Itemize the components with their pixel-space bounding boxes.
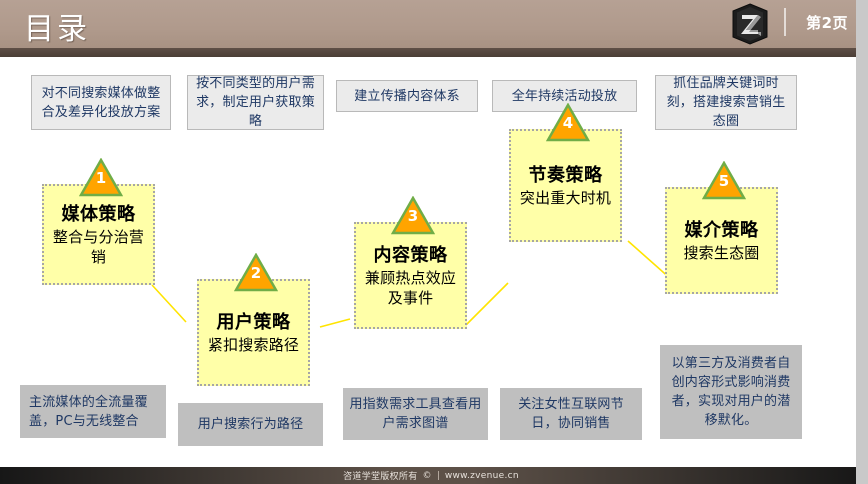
top-note-5-text: 抓住品牌关键词时刻，搭建搜索营销生态圈: [662, 74, 790, 131]
strategy-subtitle-1: 整合与分治营销: [49, 227, 148, 267]
strategy-box-5[interactable]: 5 媒介策略 搜索生态圈: [665, 187, 778, 294]
top-note-1: 对不同搜索媒体做整合及差异化投放方案: [31, 75, 171, 130]
step-marker-5-icon: 5: [702, 161, 746, 201]
top-note-3: 建立传播内容体系: [336, 80, 478, 112]
zvenue-logo-icon: [730, 3, 770, 45]
top-note-1-text: 对不同搜索媒体做整合及差异化投放方案: [38, 84, 164, 122]
diagram-canvas: 对不同搜索媒体做整合及差异化投放方案 按不同类型的用户需求，制定用户获取策略 建…: [0, 57, 862, 467]
strategy-subtitle-5: 搜索生态圈: [683, 243, 759, 263]
footer-website[interactable]: www.zvenue.cn: [445, 471, 519, 481]
strategy-title-5: 媒介策略: [685, 219, 759, 242]
slide-footer: 咨道学堂版权所有 © www.zvenue.cn: [0, 467, 862, 484]
bottom-note-3-text: 用指数需求工具查看用户需求图谱: [349, 395, 482, 433]
footer-separator: [438, 471, 439, 480]
top-note-2-text: 按不同类型的用户需求，制定用户获取策略: [194, 74, 317, 131]
strategy-box-3[interactable]: 3 内容策略 兼顾热点效应及事件: [354, 222, 467, 329]
footer-copyright-symbol: ©: [423, 471, 432, 481]
bottom-note-3: 用指数需求工具查看用户需求图谱: [343, 388, 488, 440]
strategy-title-2: 用户策略: [217, 311, 291, 334]
top-note-5: 抓住品牌关键词时刻，搭建搜索营销生态圈: [655, 75, 797, 130]
bottom-note-1: 主流媒体的全流量覆盖，PC与无线整合: [20, 385, 166, 438]
slide-right-gutter: [856, 0, 862, 484]
strategy-title-4: 节奏策略: [529, 164, 603, 187]
bottom-note-4-text: 关注女性互联网节日，协同销售: [506, 395, 636, 433]
footer-copyright: 咨道学堂版权所有: [343, 469, 417, 482]
step-number-3: 3: [391, 209, 435, 224]
page-title: 目录: [24, 4, 90, 48]
strategy-box-4[interactable]: 4 节奏策略 突出重大时机: [509, 129, 622, 242]
bottom-note-5: 以第三方及消费者自创内容形式影响消费者，实现对用户的潜移默化。: [660, 345, 802, 439]
header-divider: [784, 8, 786, 36]
step-number-2: 2: [234, 266, 278, 281]
step-marker-2-icon: 2: [234, 253, 278, 293]
bottom-note-2-text: 用户搜索行为路径: [198, 415, 304, 434]
strategy-box-2[interactable]: 2 用户策略 紧扣搜索路径: [197, 279, 310, 386]
step-marker-3-icon: 3: [391, 196, 435, 236]
strategy-title-1: 媒体策略: [62, 203, 136, 226]
bottom-note-5-text: 以第三方及消费者自创内容形式影响消费者，实现对用户的潜移默化。: [666, 354, 796, 430]
slide-canvas: 目录 第2页 对不同搜索媒体做整合及差异化投放方案 按不同类型的用户需求，制定: [0, 0, 868, 484]
bottom-note-4: 关注女性互联网节日，协同销售: [500, 388, 642, 440]
top-note-2: 按不同类型的用户需求，制定用户获取策略: [187, 75, 324, 130]
page-number: 第2页: [806, 12, 848, 33]
bottom-note-1-text: 主流媒体的全流量覆盖，PC与无线整合: [29, 393, 160, 431]
step-number-4: 4: [546, 116, 590, 131]
strategy-subtitle-4: 突出重大时机: [520, 188, 611, 208]
step-marker-4-icon: 4: [546, 103, 590, 143]
step-marker-1-icon: 1: [79, 158, 123, 198]
slide-header: 目录 第2页: [0, 0, 862, 48]
step-number-1: 1: [79, 171, 123, 186]
strategy-box-1[interactable]: 1 媒体策略 整合与分治营销: [42, 184, 155, 285]
step-number-5: 5: [702, 174, 746, 189]
strategy-subtitle-3: 兼顾热点效应及事件: [361, 268, 460, 308]
strategy-title-3: 内容策略: [374, 244, 448, 267]
bottom-note-2: 用户搜索行为路径: [178, 403, 323, 446]
header-underline: [0, 48, 862, 57]
strategy-subtitle-2: 紧扣搜索路径: [208, 335, 299, 355]
top-note-3-text: 建立传播内容体系: [354, 87, 460, 106]
